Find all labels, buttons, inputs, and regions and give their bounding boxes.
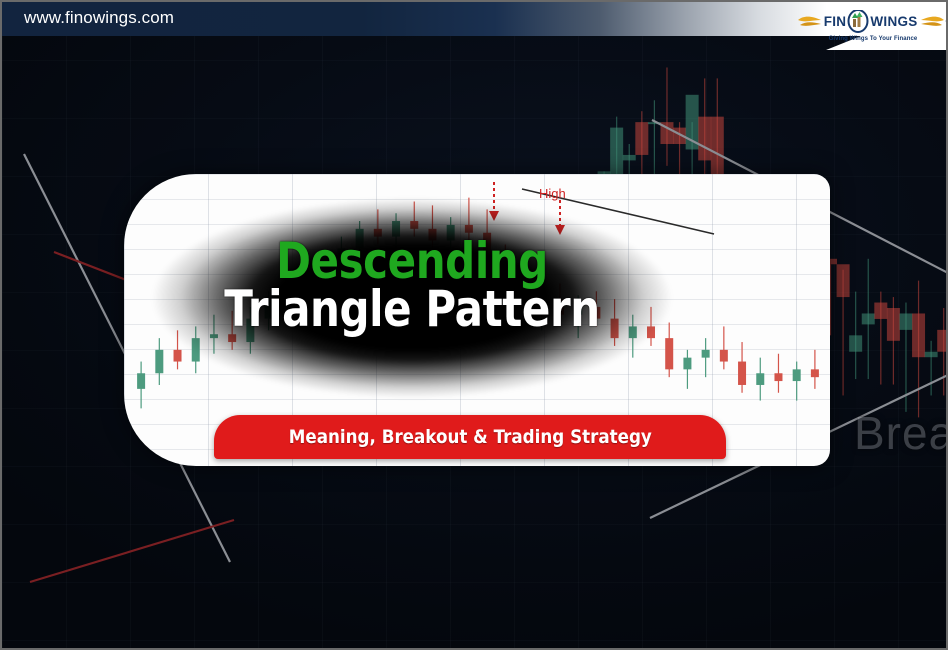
background-breakout-word: Brea (854, 406, 948, 460)
subtitle-banner: Meaning, Breakout & Trading Strategy (214, 415, 726, 459)
dark-red-line-lower-left (30, 520, 234, 582)
logo-wordmark-row: FIN WINGS ® (797, 9, 948, 35)
headline-backdrop (152, 198, 672, 398)
poster-canvas: Brea www.finowings.com FIN WINGS (0, 0, 948, 650)
logo-text-wings: WINGS (870, 14, 917, 29)
subtitle-banner-text: Meaning, Breakout & Trading Strategy (288, 426, 651, 448)
site-url[interactable]: www.finowings.com (24, 8, 174, 28)
logo-text-fin: FIN (824, 14, 847, 29)
gold-divider-line (2, 36, 948, 40)
logo-circle-emblem-icon (847, 10, 869, 34)
finowings-logo[interactable]: FIN WINGS ® Giving Wings To Your Finance (814, 5, 932, 45)
left-wing-icon (797, 11, 823, 33)
right-wing-icon (919, 11, 945, 33)
logo-tagline: Giving Wings To Your Finance (829, 36, 918, 42)
